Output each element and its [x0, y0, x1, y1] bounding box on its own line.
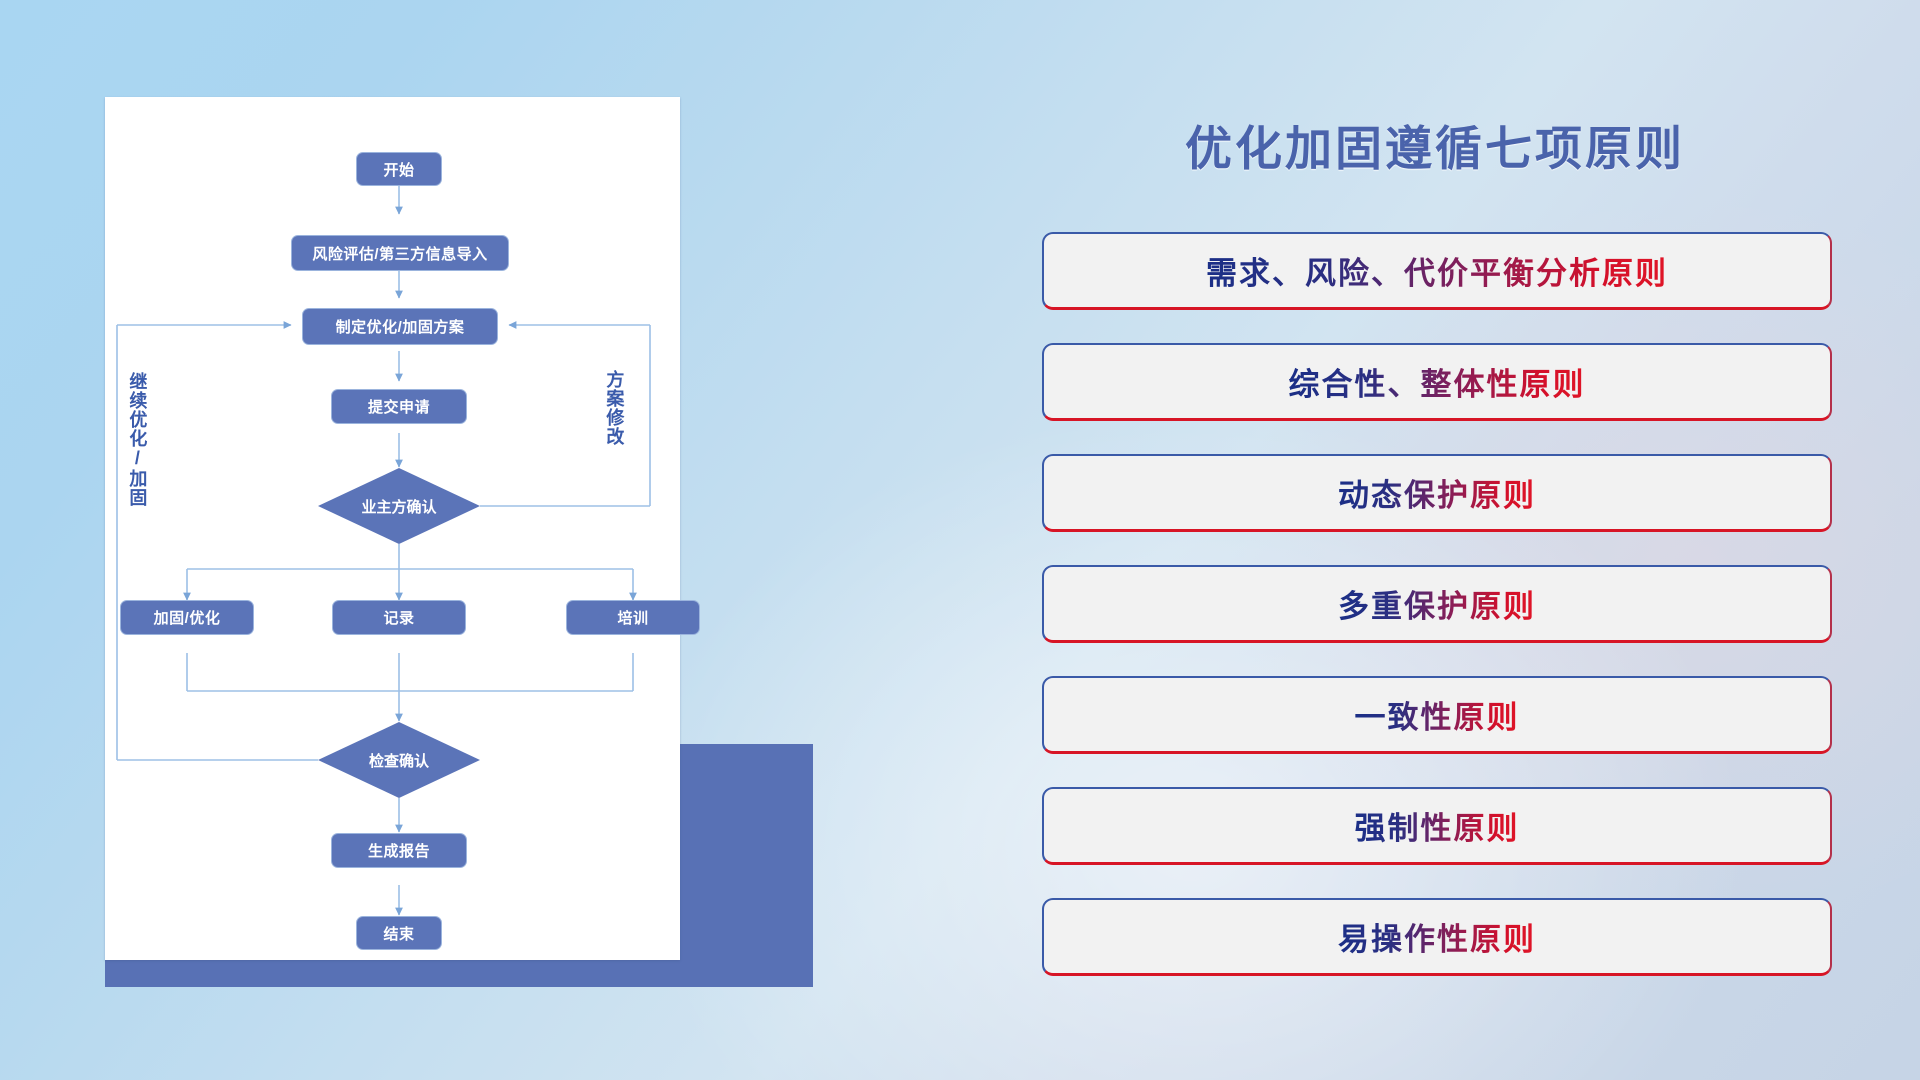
principle-card-label: 易操作性原则	[1338, 914, 1536, 959]
principle-card-5[interactable]: 一致性原则	[1042, 676, 1832, 754]
principle-card-label: 多重保护原则	[1338, 581, 1536, 626]
flow-node-label: 开始	[383, 159, 414, 180]
principle-card-6[interactable]: 强制性原则	[1042, 787, 1832, 865]
flow-node-label: 风险评估/第三方信息导入	[312, 243, 487, 264]
flow-node-inspection-confirmation[interactable]: 检查确认	[318, 722, 480, 798]
flow-node-label: 制定优化/加固方案	[336, 316, 465, 337]
flow-node-record[interactable]: 记录	[332, 600, 466, 635]
flow-node-label: 生成报告	[368, 840, 430, 861]
flowchart-panel: 开始 风险评估/第三方信息导入 制定优化/加固方案 提交申请 业主方确认 加固/…	[105, 97, 680, 960]
flow-edge-label-continue-optimize: 继续优化/加固	[128, 372, 146, 507]
flow-node-end[interactable]: 结束	[356, 916, 442, 950]
principle-card-1[interactable]: 需求、风险、代价平衡分析原则	[1042, 232, 1832, 310]
decorative-accent-rect-bottom	[105, 960, 813, 987]
flow-node-label: 加固/优化	[154, 607, 221, 628]
slide-root: 开始 风险评估/第三方信息导入 制定优化/加固方案 提交申请 业主方确认 加固/…	[0, 0, 1920, 1080]
flow-node-label: 记录	[383, 607, 414, 628]
principle-card-label: 动态保护原则	[1338, 470, 1536, 515]
flow-edge-label-plan-revision: 方案修改	[605, 370, 623, 446]
flow-node-label: 结束	[383, 923, 414, 944]
flow-node-label: 业主方确认	[361, 496, 436, 517]
flow-node-risk-assessment[interactable]: 风险评估/第三方信息导入	[291, 235, 509, 271]
principle-card-2[interactable]: 综合性、整体性原则	[1042, 343, 1832, 421]
flow-node-reinforce-optimize[interactable]: 加固/优化	[120, 600, 254, 635]
principle-card-label: 综合性、整体性原则	[1289, 359, 1586, 404]
flow-node-label: 培训	[617, 607, 648, 628]
principle-card-label: 需求、风险、代价平衡分析原则	[1206, 248, 1668, 293]
principles-section: 优化加固遵循七项原则 需求、风险、代价平衡分析原则 综合性、整体性原则 动态保护…	[1020, 0, 1850, 1080]
flow-node-submit-application[interactable]: 提交申请	[331, 389, 467, 424]
flow-node-generate-report[interactable]: 生成报告	[331, 833, 467, 868]
principle-card-4[interactable]: 多重保护原则	[1042, 565, 1832, 643]
flow-node-start[interactable]: 开始	[356, 152, 442, 186]
principle-card-7[interactable]: 易操作性原则	[1042, 898, 1832, 976]
page-title: 优化加固遵循七项原则	[1020, 110, 1850, 179]
principles-card-list: 需求、风险、代价平衡分析原则 综合性、整体性原则 动态保护原则 多重保护原则 一…	[1042, 232, 1832, 1009]
flow-node-owner-confirmation[interactable]: 业主方确认	[318, 468, 480, 544]
flow-node-make-plan[interactable]: 制定优化/加固方案	[302, 308, 498, 345]
principle-card-3[interactable]: 动态保护原则	[1042, 454, 1832, 532]
flow-node-training[interactable]: 培训	[566, 600, 700, 635]
flow-node-label: 检查确认	[369, 750, 429, 771]
principle-card-label: 一致性原则	[1355, 692, 1520, 737]
flowchart-canvas: 开始 风险评估/第三方信息导入 制定优化/加固方案 提交申请 业主方确认 加固/…	[105, 97, 680, 960]
flow-node-label: 提交申请	[368, 396, 430, 417]
principle-card-label: 强制性原则	[1355, 803, 1520, 848]
